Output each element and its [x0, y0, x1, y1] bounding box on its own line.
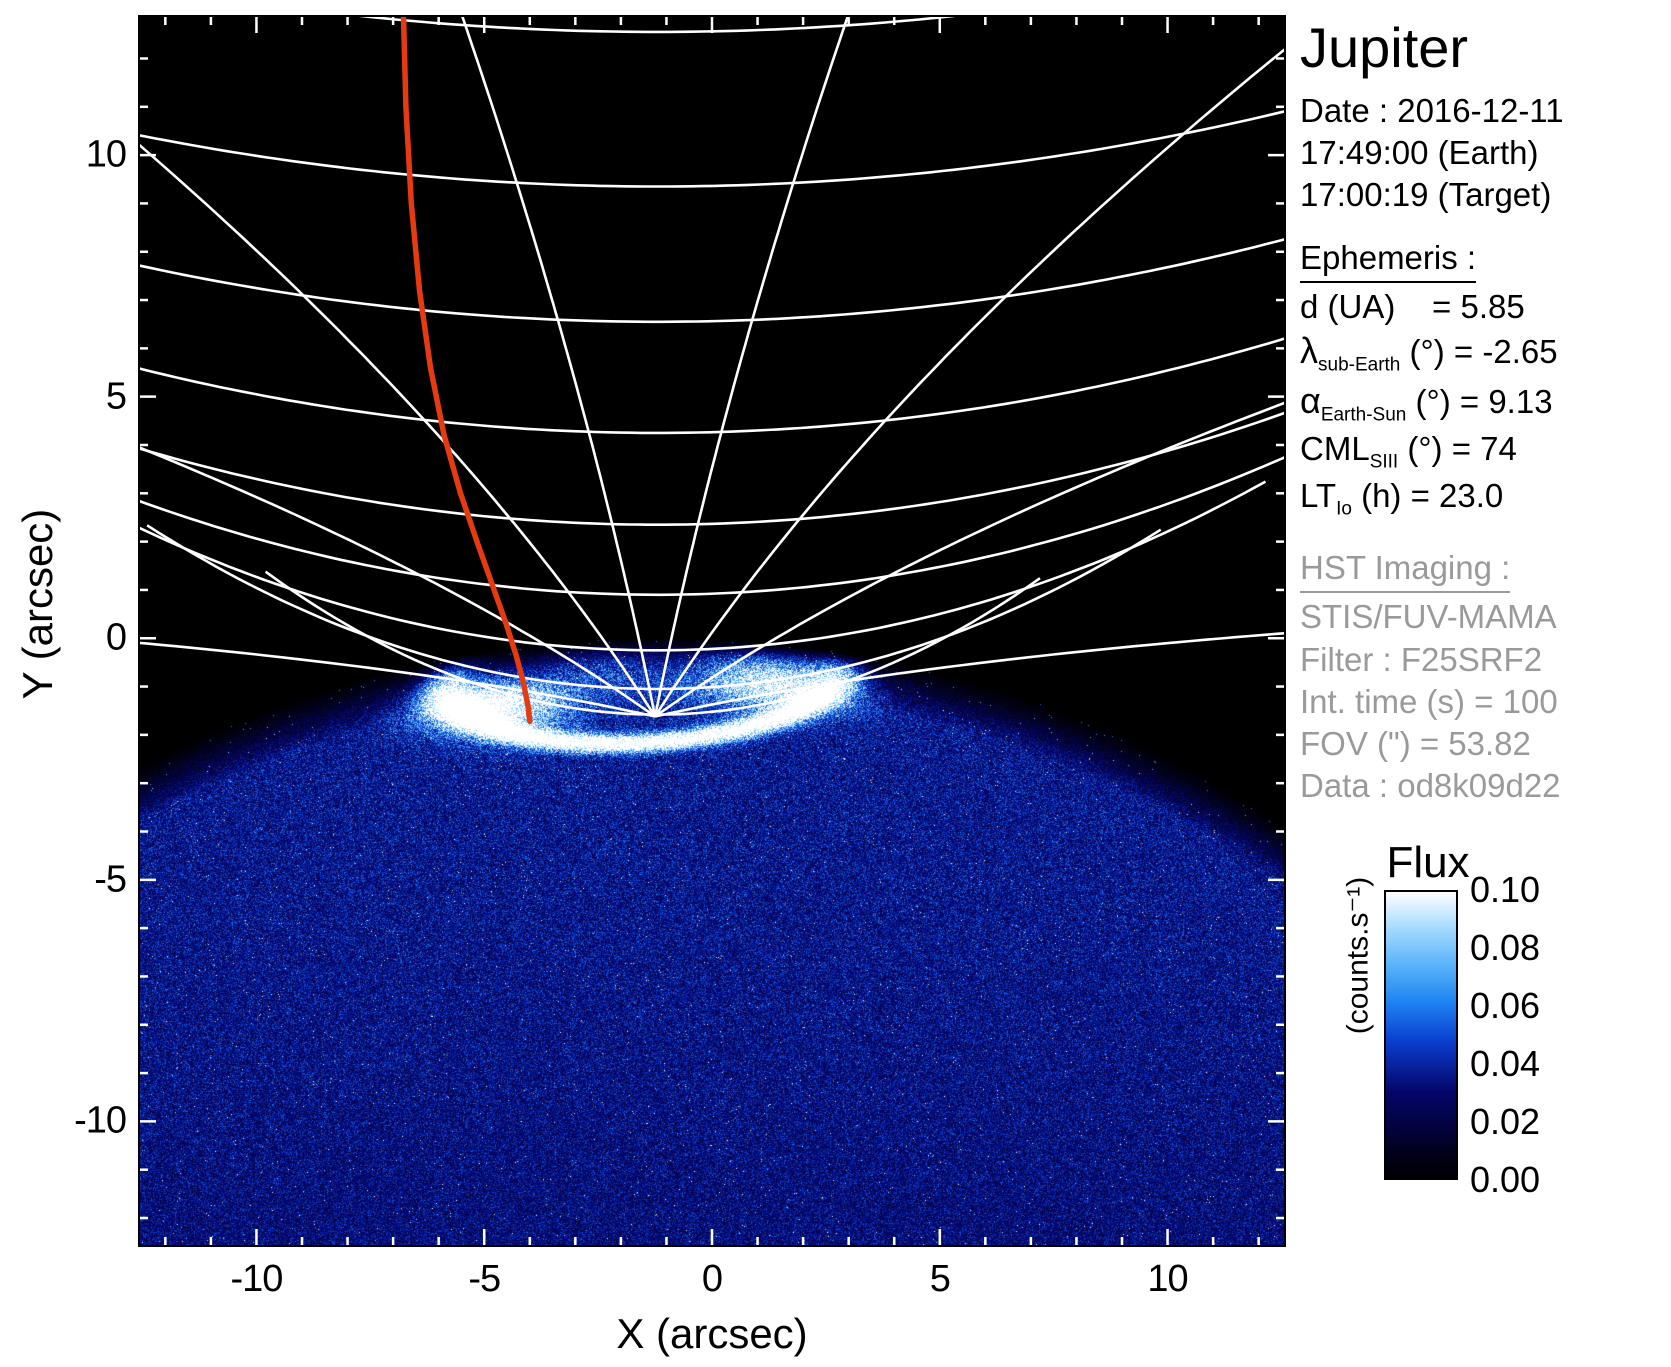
longitude-meridian: [655, 622, 1286, 717]
ephemeris-row-lambda: λsub-Earth (°) = -2.65: [1300, 328, 1671, 378]
longitude-meridian: [138, 15, 655, 717]
alpha-symbol: α: [1300, 380, 1321, 421]
x-tick-label: 5: [930, 1258, 950, 1301]
lambda-subscript: sub-Earth: [1318, 354, 1400, 375]
observation-date: Date : 2016-12-11: [1300, 90, 1671, 132]
ephemeris-heading: Ephemeris :: [1300, 237, 1476, 283]
colorbar-tick-label: 0.00: [1470, 1159, 1540, 1201]
longitude-meridian: [655, 340, 1286, 717]
colorbar-tick-label: 0.04: [1470, 1043, 1540, 1085]
hst-imaging-heading: HST Imaging :: [1300, 547, 1510, 593]
lambda-value: = -2.65: [1454, 333, 1558, 370]
longitude-meridian: [655, 15, 896, 717]
hst-imaging-block: HST Imaging : STIS/FUV-MAMA Filter : F25…: [1300, 547, 1671, 807]
lambda-unit: (°): [1410, 333, 1445, 370]
x-tick-label: 0: [702, 1258, 722, 1301]
y-axis-title: Y (arcsec): [14, 394, 62, 814]
observation-time-earth: 17:49:00 (Earth): [1300, 132, 1671, 174]
longitude-meridian: [138, 629, 655, 716]
x-axis-ticks: -10-50510: [0, 1258, 1671, 1318]
x-tick-label: 10: [1147, 1258, 1187, 1301]
latitude-parallel: [138, 362, 1286, 524]
colorbar-tick-label: 0.10: [1470, 869, 1540, 911]
ephemeris-row-cml: CMLSIII (°) = 74: [1300, 428, 1671, 475]
aurora-image-plot: [138, 15, 1286, 1247]
hst-instrument: STIS/FUV-MAMA: [1300, 596, 1671, 638]
colorbar-gradient: [1384, 890, 1458, 1180]
ephemeris-row-lt: LTIo (h) = 23.0: [1300, 475, 1671, 522]
alpha-subscript: Earth-Sun: [1321, 404, 1407, 425]
x-tick-label: -5: [468, 1258, 500, 1301]
ephemeris-block: Ephemeris : d (UA) = 5.85 λsub-Earth (°)…: [1300, 237, 1671, 522]
latitude-parallel: [138, 427, 1286, 595]
alpha-unit: (°): [1416, 383, 1451, 420]
lt-unit: (h): [1361, 477, 1401, 514]
lt-subscript: Io: [1336, 498, 1352, 519]
cml-label: CML: [1300, 430, 1370, 467]
hst-dataset-id: Data : od8k09d22: [1300, 765, 1671, 807]
observation-info-panel: Jupiter Date : 2016-12-11 17:49:00 (Eart…: [1300, 14, 1671, 808]
flux-colorbar: Flux (counts.s⁻¹) 0.100.080.060.040.020.…: [1300, 838, 1671, 1198]
observation-block: Date : 2016-12-11 17:49:00 (Earth) 17:00…: [1300, 90, 1671, 217]
x-axis-title: X (arcsec): [138, 1310, 1286, 1358]
lt-value: = 23.0: [1411, 477, 1504, 514]
colorbar-units-label: (counts.s⁻¹): [1341, 826, 1376, 1086]
cml-value: = 74: [1452, 430, 1517, 467]
lambda-symbol: λ: [1300, 330, 1318, 371]
colorbar-tick-label: 0.02: [1470, 1101, 1540, 1143]
x-tick-label: -10: [230, 1258, 282, 1301]
longitude-meridian: [414, 15, 655, 717]
y-tick-label: 10: [16, 134, 126, 177]
cml-subscript: SIII: [1370, 451, 1399, 472]
colorbar-tick-label: 0.06: [1470, 985, 1540, 1027]
lt-label: LT: [1300, 477, 1336, 514]
latitude-parallel: [138, 44, 1286, 187]
page-title: Jupiter: [1300, 20, 1671, 76]
hst-integration-time: Int. time (s) = 100: [1300, 681, 1671, 723]
cml-unit: (°): [1407, 430, 1442, 467]
hst-filter: Filter : F25SRF2: [1300, 639, 1671, 681]
ephemeris-row-alpha: αEarth-Sun (°) = 9.13: [1300, 378, 1671, 428]
distance-value: = 5.85: [1432, 288, 1525, 325]
ephemeris-row-distance: d (UA) = 5.85: [1300, 286, 1671, 328]
io-footprint-trace: [403, 15, 530, 721]
y-tick-label: -10: [16, 1100, 126, 1143]
distance-label: d (UA): [1300, 288, 1395, 325]
coordinate-grid-overlay: [138, 15, 1286, 1247]
observation-time-target: 17:00:19 (Target): [1300, 174, 1671, 216]
alpha-value: = 9.13: [1460, 383, 1553, 420]
colorbar-tick-label: 0.08: [1470, 927, 1540, 969]
hst-fov: FOV (") = 53.82: [1300, 723, 1671, 765]
y-tick-label: -5: [16, 858, 126, 901]
